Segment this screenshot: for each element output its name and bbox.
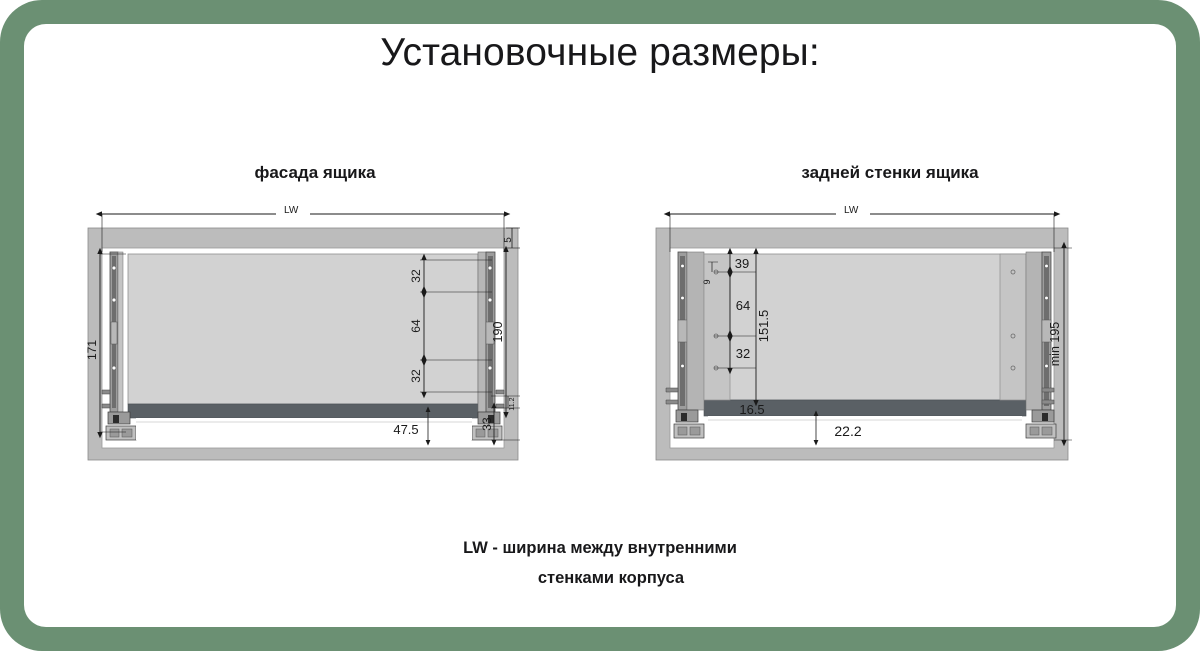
dimension-label-32-bottom: 32	[409, 369, 423, 383]
legend-key: LW -	[463, 539, 498, 557]
diagram-subtitle-back: задней стенки ящика	[640, 163, 1140, 183]
drawer-front-panel	[128, 254, 478, 404]
dimension-label-min-195: min 195	[1048, 322, 1062, 367]
dimension-label-9: 9	[702, 279, 712, 284]
dimension-label-32-top: 32	[409, 269, 423, 283]
bottom-profile-bar	[128, 404, 478, 418]
dimension-label-171: 171	[85, 340, 99, 360]
dimension-label-47-5: 47.5	[393, 422, 418, 437]
dimension-label-39: 39	[735, 256, 749, 271]
dimension-label-64: 64	[736, 298, 750, 313]
legend-line-1: ширина между внутренними	[503, 539, 737, 557]
dimension-label-lw-back: LW	[844, 205, 859, 216]
diagram-subtitle-front: фасада ящика	[120, 163, 510, 183]
dimension-label-151-5: 151.5	[756, 310, 771, 343]
technical-drawing-back-panel: LW 9 39 64 32	[648, 200, 1088, 475]
dimension-label-16-5: 16.5	[739, 402, 764, 417]
legend-caption: LW - ширина между внутренними стенками к…	[0, 533, 1200, 593]
back-panel-svg: LW 9 39 64 32	[648, 200, 1088, 475]
legend-line-2: стенками корпуса	[0, 563, 1200, 593]
dimension-label-11-2: 11.2	[509, 397, 516, 410]
page-title: Установочные размеры:	[0, 31, 1200, 75]
dimension-label-lw-front: LW	[284, 205, 299, 216]
front-panel-svg: LW 171 5	[80, 200, 550, 475]
dimension-label-22-2: 22.2	[834, 423, 861, 439]
dimension-16-5: 16.5	[739, 402, 764, 417]
dimension-label-190: 190	[491, 322, 505, 343]
dimension-label-32: 32	[736, 346, 750, 361]
slide-canvas: Установочные размеры: фасада ящика задне…	[0, 0, 1200, 651]
dimension-label-33: 33	[480, 417, 494, 431]
dimension-label-5: 5	[503, 237, 514, 243]
technical-drawing-front-panel: LW 171 5	[80, 200, 550, 475]
dimension-label-64: 64	[409, 319, 423, 333]
drawer-back-panel	[704, 254, 1026, 400]
